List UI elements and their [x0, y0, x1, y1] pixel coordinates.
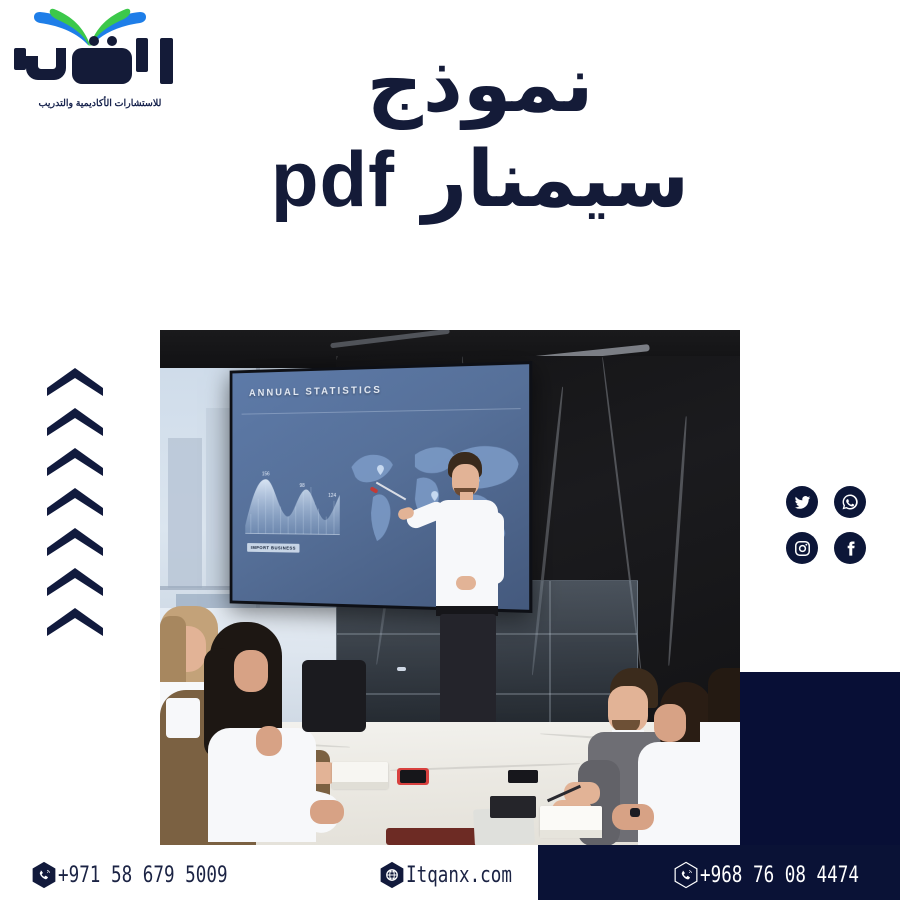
brand-logo: للاستشارات الأكاديمية والتدريب: [8, 6, 188, 118]
social-icon-twitter[interactable]: [786, 486, 818, 518]
social-links: [786, 486, 878, 570]
chevron-up-icon: [46, 366, 104, 396]
screen-line-chart: 156 98 124: [245, 465, 339, 540]
facebook-icon: [842, 540, 859, 557]
title-line-1: نموذج: [200, 46, 760, 124]
chevron-up-icon: [46, 406, 104, 436]
svg-text:124: 124: [328, 493, 336, 499]
chevron-stack: [46, 366, 108, 646]
footer-phone-uae-text: +971 58 679 5009: [58, 863, 228, 888]
phone-black: [508, 770, 538, 783]
poster-canvas: للاستشارات الأكاديمية والتدريب نموذج سيم…: [0, 0, 900, 900]
chevron-up-icon: [46, 606, 104, 636]
chevron-up-icon: [46, 486, 104, 516]
social-icon-whatsapp[interactable]: [834, 486, 866, 518]
social-icon-instagram[interactable]: [786, 532, 818, 564]
seminar-photo: ANNUAL STATISTICS: [160, 330, 740, 845]
notepad-edge: [540, 830, 602, 838]
phone-icon: [30, 861, 58, 889]
chevron-up-icon: [46, 446, 104, 476]
social-icon-facebook[interactable]: [834, 532, 866, 564]
title-line-2: سيمنار pdf: [200, 140, 760, 219]
office-chair: [302, 660, 366, 732]
twitter-icon: [794, 494, 811, 511]
logo-wordmark: [8, 34, 183, 96]
instagram-icon: [794, 540, 811, 557]
title-line-2-latin: pdf: [271, 135, 395, 223]
phone-screen: [400, 770, 426, 783]
title-line-2-arabic: سيمنار: [422, 135, 689, 225]
phone-icon: [672, 861, 700, 889]
svg-text:156: 156: [262, 471, 270, 477]
screen-divider: [242, 408, 521, 415]
whatsapp-icon: [841, 493, 859, 511]
footer-phone-uae[interactable]: +971 58 679 5009: [30, 855, 270, 895]
chevron-up-icon: [46, 566, 104, 596]
map-pin-icon: [431, 491, 438, 501]
footer-website-text: Itqanx.com: [406, 863, 512, 888]
navy-accent-block: [740, 672, 900, 846]
map-pin-icon: [377, 465, 384, 475]
logo-tagline: للاستشارات الأكاديمية والتدريب: [20, 98, 180, 109]
chevron-up-icon: [46, 526, 104, 556]
page-title: نموذج سيمنار pdf: [200, 46, 760, 286]
footer-phone-oman[interactable]: +968 76 08 4474: [672, 855, 899, 895]
notebook-edge: [332, 782, 388, 789]
svg-text:98: 98: [299, 483, 305, 489]
screen-chart-label: IMPORT BUSINESS: [247, 543, 300, 553]
tablet: [490, 796, 536, 818]
globe-icon: [378, 861, 406, 889]
footer-website[interactable]: Itqanx.com: [378, 855, 538, 895]
footer-phone-oman-text: +968 76 08 4474: [700, 863, 859, 888]
screen-title: ANNUAL STATISTICS: [249, 385, 382, 399]
